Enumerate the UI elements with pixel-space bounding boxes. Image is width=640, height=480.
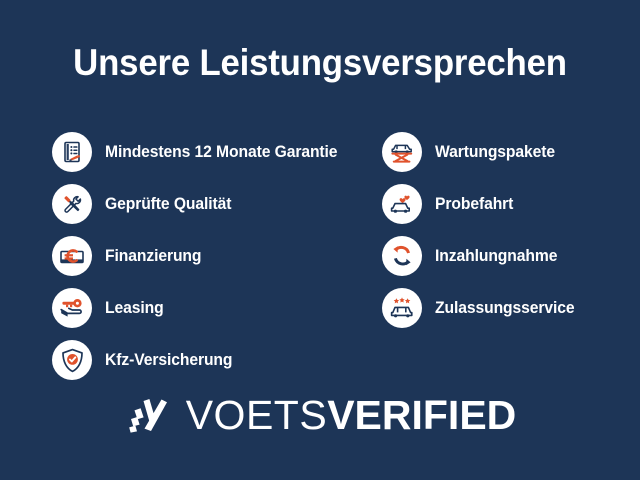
shield-check-icon: [52, 340, 92, 380]
promise-label: Inzahlungnahme: [435, 247, 557, 266]
promise-label: Wartungspakete: [435, 143, 555, 162]
promise-item-probefahrt[interactable]: Probefahrt: [382, 178, 638, 230]
promise-item-inzahlungnahme[interactable]: Inzahlungnahme: [382, 230, 638, 282]
certificate-document-icon: [52, 132, 92, 172]
voets-verified-promise-banner: Unsere Leistungsversprechen: [0, 0, 640, 480]
promise-label: Probefahrt: [435, 195, 513, 214]
logo-wordmark-voets: VOETS: [186, 395, 327, 436]
promise-label: Finanzierung: [105, 247, 201, 266]
promise-item-wartungspakete[interactable]: Wartungspakete: [382, 126, 638, 178]
logo-wordmark-verified: VERIFIED: [327, 395, 516, 436]
wrench-screwdriver-icon: [52, 184, 92, 224]
euro-banknote-icon: [52, 236, 92, 276]
car-on-lift-icon: [382, 132, 422, 172]
promise-label: Kfz-Versicherung: [105, 351, 232, 370]
promise-item-qualitaet[interactable]: Geprüfte Qualität: [52, 178, 382, 230]
promise-item-garantie[interactable]: Mindestens 12 Monate Garantie: [52, 126, 382, 178]
promise-item-finanzierung[interactable]: Finanzierung: [52, 230, 382, 282]
exchange-arrows-icon: [382, 236, 422, 276]
key-in-hand-icon: [52, 288, 92, 328]
brand-logo-lockup: VOETS VERIFIED: [0, 392, 640, 438]
promise-label: Zulassungsservice: [435, 299, 575, 318]
promise-label: Leasing: [105, 299, 164, 318]
voets-v-checkmark-logo: [124, 392, 170, 438]
promise-item-leasing[interactable]: Leasing: [52, 282, 382, 334]
promise-label: Geprüfte Qualität: [105, 195, 231, 214]
car-with-hearts-icon: [382, 184, 422, 224]
page-title: Unsere Leistungsversprechen: [19, 44, 621, 81]
promise-label: Mindestens 12 Monate Garantie: [105, 143, 337, 162]
promise-item-zulassungsservice[interactable]: Zulassungsservice: [382, 282, 638, 334]
promise-item-versicherung[interactable]: Kfz-Versicherung: [52, 334, 382, 386]
promises-right-column: Wartungspakete Probefahrt: [382, 126, 638, 334]
promises-left-column: Mindestens 12 Monate Garantie Geprüfte Q…: [52, 126, 382, 386]
car-with-stars-icon: [382, 288, 422, 328]
